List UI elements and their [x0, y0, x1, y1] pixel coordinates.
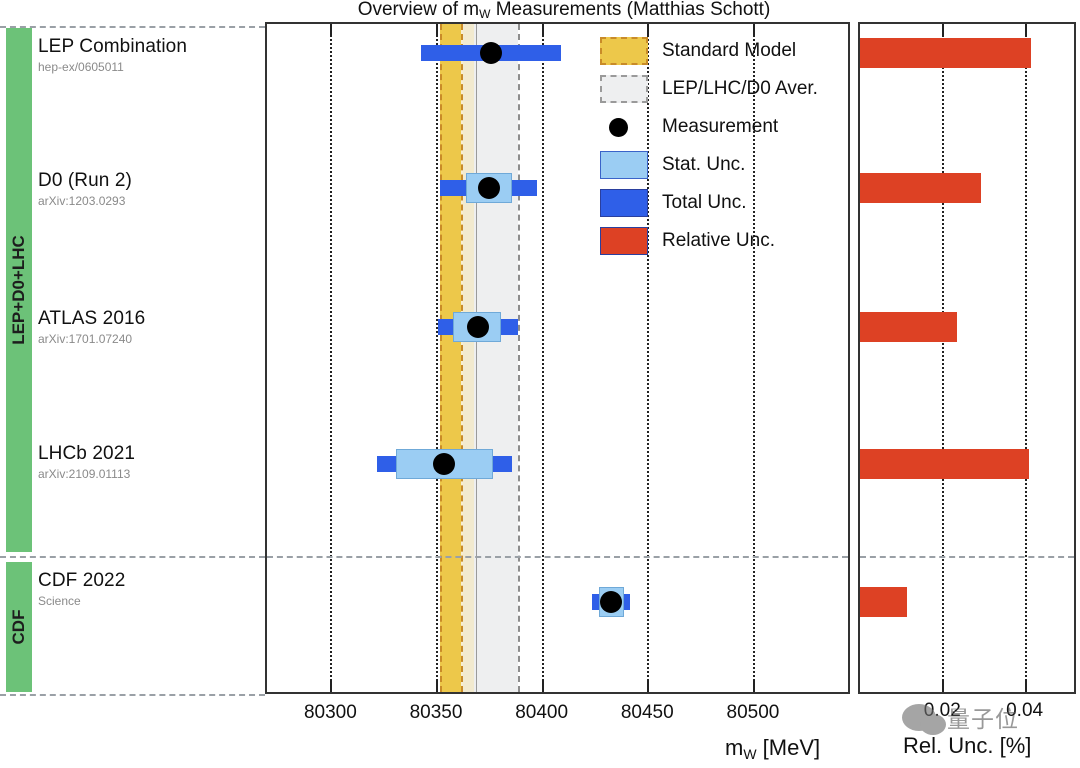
relative-uncertainty-bar — [860, 173, 981, 203]
mass-axis-title-sub: W — [743, 746, 756, 762]
legend-label: Relative Unc. — [662, 230, 775, 252]
standard-model-swatch — [600, 37, 648, 65]
relative-uncertainty-bar — [860, 587, 907, 617]
row-label-atlas-2016: ATLAS 2016 arXiv:1701.07240 — [38, 308, 253, 346]
legend-item-standard-model: Standard Model — [600, 32, 850, 70]
legend-label: Standard Model — [662, 40, 796, 62]
row-label-lhcb-2021: LHCb 2021 arXiv:2109.01113 — [38, 443, 253, 481]
gridline — [436, 24, 438, 692]
legend-label: Stat. Unc. — [662, 154, 745, 176]
gridline — [942, 24, 944, 692]
legend-label: Measurement — [662, 116, 778, 138]
axis-tick — [436, 24, 438, 37]
mass-axis-tick-label: 80400 — [515, 702, 568, 724]
chart-legend: Standard Model LEP/LHC/D0 Aver. Measurem… — [600, 32, 850, 260]
row-label-lep-combination: LEP Combination hep-ex/0605011 — [38, 36, 253, 74]
relative-plot-inner — [860, 24, 1074, 692]
mass-axis-tick-label: 80300 — [304, 702, 357, 724]
gridline — [542, 24, 544, 692]
row-name: LEP Combination — [38, 36, 253, 58]
axis-tick — [330, 24, 332, 37]
group-band-cdf: CDF — [6, 562, 32, 692]
axis-tick — [647, 679, 649, 692]
axis-tick — [753, 679, 755, 692]
axis-tick — [942, 679, 944, 692]
legend-item-relative-unc: Relative Unc. — [600, 222, 850, 260]
measurement-dot-swatch — [600, 113, 648, 141]
mass-axis-tick-label: 80350 — [410, 702, 463, 724]
stat-unc-swatch — [600, 151, 648, 179]
row-name: CDF 2022 — [38, 570, 253, 592]
world-average-center-line — [476, 24, 477, 692]
group-band-lep-d0-lhc: LEP+D0+LHC — [6, 28, 32, 552]
mass-axis-tick-label: 80500 — [727, 702, 780, 724]
axis-tick — [436, 679, 438, 692]
chart-title-subscript: W — [479, 7, 490, 21]
row-reference: arXiv:1203.0293 — [38, 194, 253, 208]
legend-item-lep-lhc-d0-average: LEP/LHC/D0 Aver. — [600, 70, 850, 108]
legend-item-total-unc: Total Unc. — [600, 184, 850, 222]
relative-uncertainty-bar — [860, 312, 957, 342]
chart-root: Overview of mW Measurements (Matthias Sc… — [0, 0, 1080, 768]
row-name: ATLAS 2016 — [38, 308, 253, 330]
row-label-d0-run-2: D0 (Run 2) arXiv:1203.0293 — [38, 170, 253, 208]
row-reference: Science — [38, 594, 253, 608]
relative-uncertainty-bar — [860, 449, 1029, 479]
relative-axis-tick-label: 0.04 — [1006, 700, 1043, 722]
gridline — [330, 24, 332, 692]
axis-tick — [330, 679, 332, 692]
standard-model-band — [440, 24, 461, 692]
row-name: D0 (Run 2) — [38, 170, 253, 192]
mass-axis-title-post: [MeV] — [757, 735, 821, 760]
plot-group-separator — [267, 556, 848, 558]
mass-axis-title: mW [MeV] — [725, 735, 820, 762]
separator-top — [0, 26, 265, 28]
relative-axis-tick-label: 0.02 — [924, 700, 961, 722]
measurement-dot — [478, 177, 500, 199]
relative-unc-swatch — [600, 227, 648, 255]
row-reference: arXiv:1701.07240 — [38, 332, 253, 346]
row-name: LHCb 2021 — [38, 443, 253, 465]
world-average-swatch — [600, 75, 648, 103]
axis-tick — [542, 679, 544, 692]
total-unc-swatch — [600, 189, 648, 217]
row-reference: arXiv:2109.01113 — [38, 467, 253, 481]
group-band-label-cdf: CDF — [9, 610, 29, 645]
standard-model-edge-right — [461, 24, 463, 692]
axis-tick — [1025, 24, 1027, 37]
axis-tick — [1025, 679, 1027, 692]
mass-axis-title-pre: m — [725, 735, 743, 760]
gridline — [1025, 24, 1027, 692]
mass-axis-tick-label: 80450 — [621, 702, 674, 724]
relative-uncertainty-bar — [860, 38, 1031, 68]
axis-tick — [542, 24, 544, 37]
relative-axis-title: Rel. Unc. [%] — [903, 733, 1031, 759]
group-band-label-lep-d0-lhc: LEP+D0+LHC — [9, 235, 29, 345]
world-average-edge — [518, 24, 520, 692]
chart-title: Overview of mW Measurements (Matthias Sc… — [264, 0, 864, 22]
legend-item-measurement: Measurement — [600, 108, 850, 146]
row-label-cdf-2022: CDF 2022 Science — [38, 570, 253, 608]
chart-title-pre: Overview of m — [358, 0, 479, 20]
axis-tick — [942, 24, 944, 37]
standard-model-edge-left — [440, 24, 442, 692]
separator-group — [0, 556, 265, 558]
relative-group-separator — [860, 556, 1074, 558]
measurement-dot — [480, 42, 502, 64]
legend-label: Total Unc. — [662, 192, 746, 214]
relative-uncertainty-plot — [858, 22, 1076, 694]
legend-label: LEP/LHC/D0 Aver. — [662, 78, 818, 100]
separator-bottom — [0, 694, 265, 696]
row-reference: hep-ex/0605011 — [38, 60, 253, 74]
legend-item-stat-unc: Stat. Unc. — [600, 146, 850, 184]
chart-title-post: Measurements (Matthias Schott) — [490, 0, 770, 20]
